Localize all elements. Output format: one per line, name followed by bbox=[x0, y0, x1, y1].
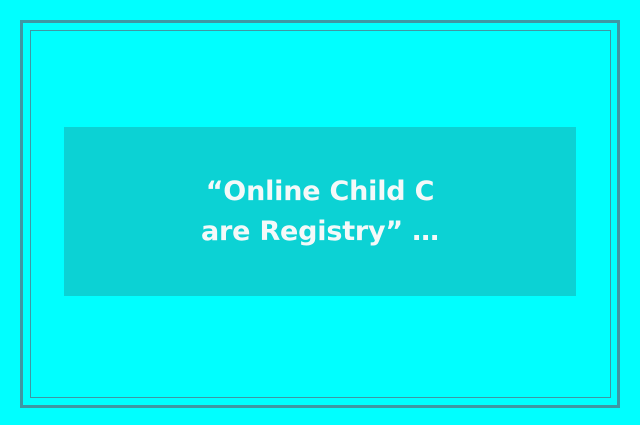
title-banner-panel: “Online Child C are Registry” … bbox=[64, 127, 576, 296]
slide-canvas: “Online Child C are Registry” … bbox=[0, 0, 640, 425]
banner-title-text: “Online Child C are Registry” … bbox=[64, 172, 576, 252]
